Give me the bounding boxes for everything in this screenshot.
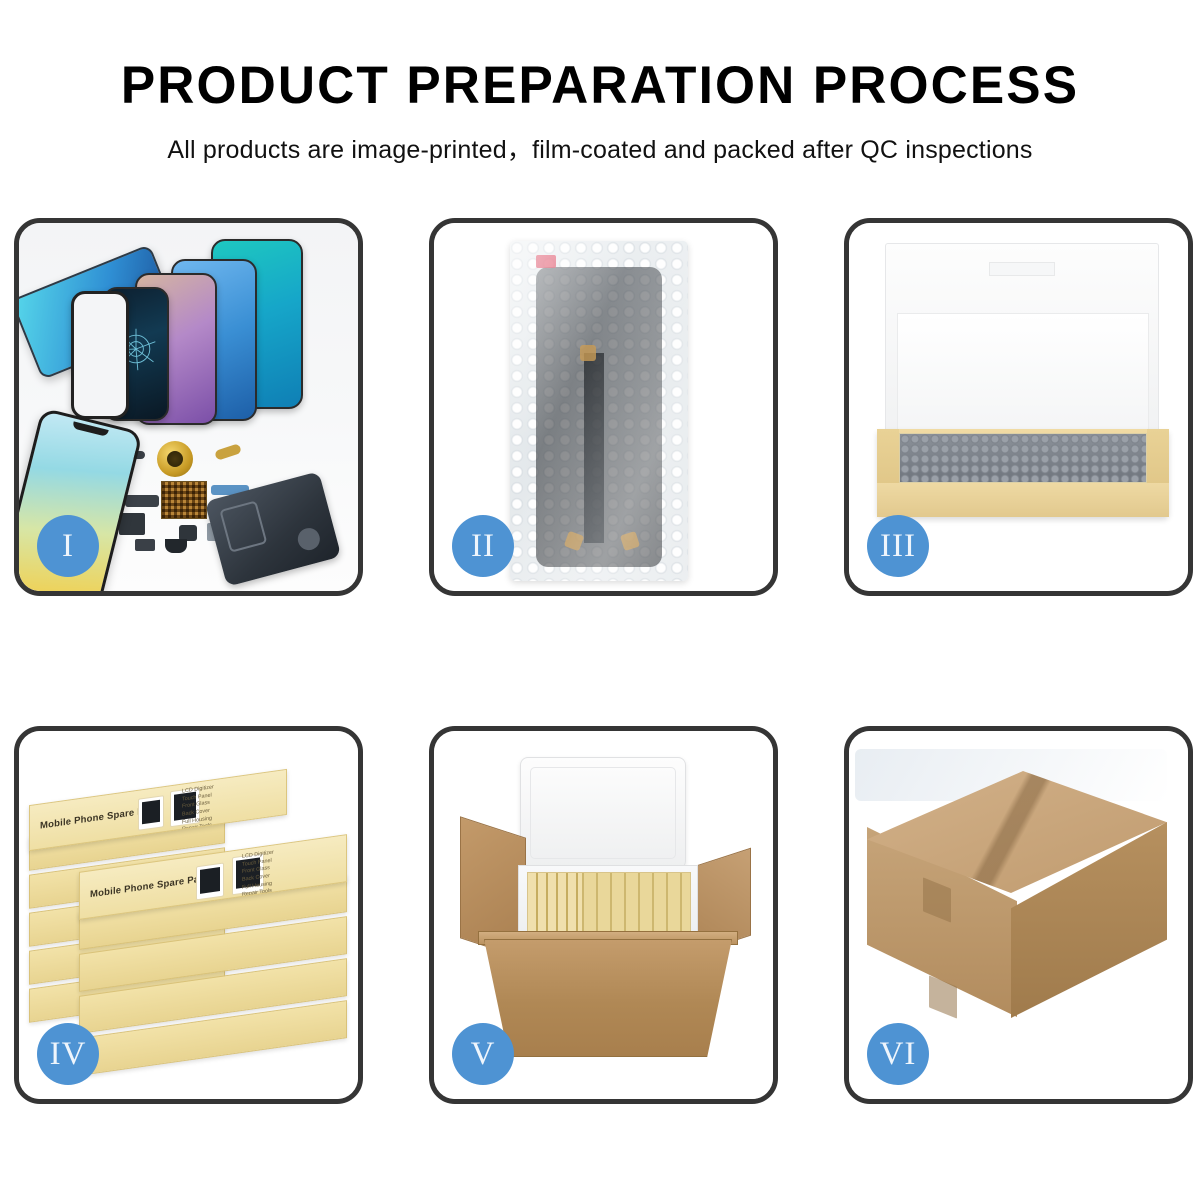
step-badge-1: I	[37, 515, 99, 577]
part-icon	[119, 513, 145, 535]
part-icon	[165, 539, 187, 553]
page-title: PRODUCT PREPARATION PROCESS	[18, 58, 1182, 114]
white-foam-sheet-icon	[897, 313, 1149, 435]
plastic-sheen	[510, 241, 688, 581]
carton-body-icon	[484, 939, 732, 1057]
header: PRODUCT PREPARATION PROCESS All products…	[0, 0, 1200, 166]
box-thumbnail-icon	[196, 862, 224, 900]
step-badge-6: VI	[867, 1023, 929, 1085]
box-thumbnail-icon	[138, 795, 164, 831]
process-step-panel-3[interactable]: III	[844, 218, 1193, 596]
notch-icon	[72, 421, 109, 437]
step-badge-3: III	[867, 515, 929, 577]
page-subtitle: All products are image-printed，film-coat…	[0, 130, 1200, 166]
packed-boxes-icon	[527, 872, 691, 934]
kraft-box-tray-icon	[877, 429, 1169, 517]
chip-grid-icon	[161, 481, 207, 519]
process-step-panel-2[interactable]: II	[429, 218, 778, 596]
process-step-panel-4[interactable]: Mobile Phone Spare Parts LCD Digitizer T…	[14, 726, 363, 1104]
box-item-list: LCD Digitizer Touch Panel Front Glass Ba…	[182, 775, 278, 835]
box-brand-text: Mobile Phone Spare Parts	[90, 872, 212, 900]
front-glass-icon	[71, 291, 129, 419]
process-step-grid: I II	[14, 218, 1186, 1104]
process-step-panel-5[interactable]: V	[429, 726, 778, 1104]
infographic-page: PRODUCT PREPARATION PROCESS All products…	[0, 0, 1200, 1200]
step-badge-4: IV	[37, 1023, 99, 1085]
process-step-panel-6[interactable]: VI	[844, 726, 1193, 1104]
tray-front-face	[877, 483, 1169, 517]
part-icon	[135, 539, 155, 551]
styrofoam-lid-icon	[520, 757, 686, 869]
bubble-wrap-bag-icon	[510, 241, 688, 581]
step-badge-5: V	[452, 1023, 514, 1085]
grey-foam-padding-icon	[899, 433, 1147, 483]
step-badge-2: II	[452, 515, 514, 577]
speaker-coil-icon	[157, 441, 193, 477]
process-step-panel-1[interactable]: I	[14, 218, 363, 596]
part-icon	[125, 495, 159, 507]
lid-tab-icon	[989, 262, 1055, 276]
